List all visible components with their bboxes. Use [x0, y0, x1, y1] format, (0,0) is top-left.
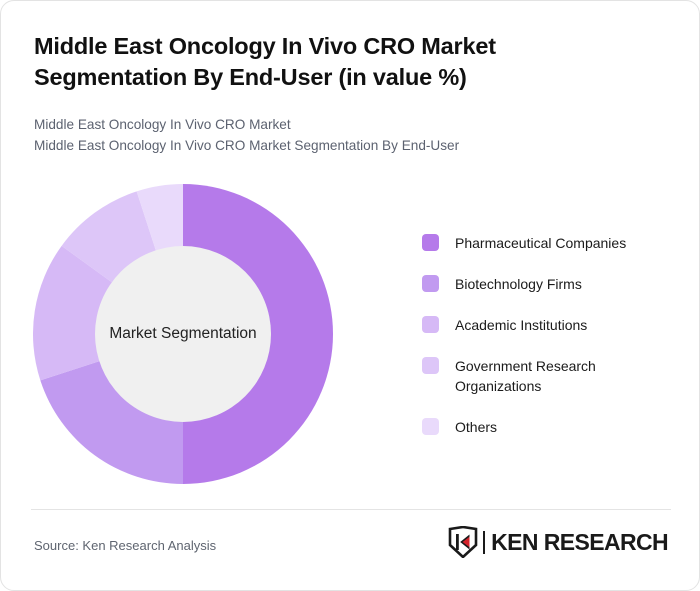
legend-label: Biotechnology Firms [455, 274, 582, 294]
page-title: Middle East Oncology In Vivo CRO Market … [34, 31, 574, 93]
logo-wordmark: KEN RESEARCH [491, 529, 668, 556]
legend-item[interactable]: Academic Institutions [422, 315, 672, 335]
source-note: Source: Ken Research Analysis [34, 538, 216, 553]
legend-swatch-icon [422, 316, 439, 333]
legend-label: Government Research Organizations [455, 356, 655, 396]
donut-chart: Market Segmentation [33, 184, 333, 484]
legend-label: Pharmaceutical Companies [455, 233, 626, 253]
ken-research-logo: KEN RESEARCH [448, 525, 668, 559]
legend-label: Others [455, 417, 497, 437]
legend-swatch-icon [422, 418, 439, 435]
legend-label: Academic Institutions [455, 315, 587, 335]
legend-swatch-icon [422, 275, 439, 292]
chart-legend: Pharmaceutical CompaniesBiotechnology Fi… [422, 233, 672, 437]
legend-swatch-icon [422, 234, 439, 251]
legend-item[interactable]: Biotechnology Firms [422, 274, 672, 294]
donut-chart-svg [33, 184, 333, 484]
legend-item[interactable]: Others [422, 417, 672, 437]
subtitle-line-2: Middle East Oncology In Vivo CRO Market … [34, 135, 594, 156]
legend-item[interactable]: Pharmaceutical Companies [422, 233, 672, 253]
logo-separator [483, 531, 485, 554]
legend-swatch-icon [422, 357, 439, 374]
footer-divider [31, 509, 671, 510]
subtitle-block: Middle East Oncology In Vivo CRO Market … [34, 114, 594, 156]
subtitle-line-1: Middle East Oncology In Vivo CRO Market [34, 114, 594, 135]
ken-research-logo-icon [448, 526, 478, 558]
legend-item[interactable]: Government Research Organizations [422, 356, 672, 396]
chart-card: Middle East Oncology In Vivo CRO Market … [0, 0, 700, 591]
donut-hole [95, 246, 271, 422]
